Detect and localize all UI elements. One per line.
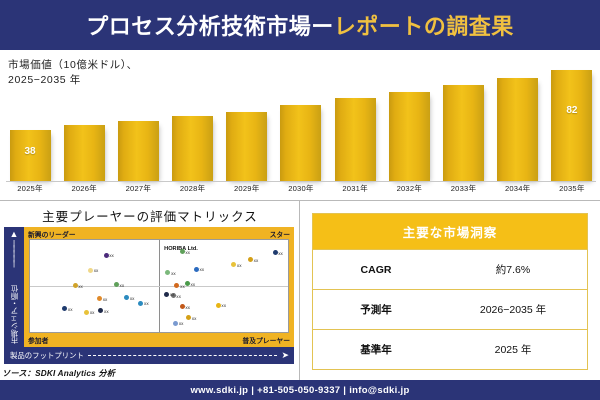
insights-row-key: 基準年 xyxy=(313,330,440,370)
matrix-data-point xyxy=(62,306,67,311)
bar xyxy=(389,92,430,181)
matrix-data-point xyxy=(124,295,129,300)
matrix-data-point xyxy=(231,262,236,267)
x-axis-tick-label: 2025年 xyxy=(8,183,52,198)
insights-row-value: 約7.6% xyxy=(439,250,588,290)
matrix-data-point-label: xx xyxy=(170,292,175,297)
chart-axis-line xyxy=(6,181,596,182)
matrix-data-point xyxy=(97,296,102,301)
matrix-data-point-label: xx xyxy=(120,283,125,288)
bar-column xyxy=(442,59,486,181)
matrix-x-axis-label: 製品のフットプリント xyxy=(10,350,84,361)
bar xyxy=(64,125,105,181)
matrix-data-point-label: xx xyxy=(78,284,83,289)
page-title: プロセス分析技術市場ーレポートの調査果 xyxy=(86,9,514,41)
matrix-data-point-label: xx xyxy=(109,253,114,258)
matrix-data-point-label: xx xyxy=(130,296,135,301)
x-axis-tick-label: 2032年 xyxy=(387,183,431,198)
bar-column xyxy=(62,59,106,181)
matrix-y-axis-label: 市場シェア・順位 xyxy=(9,285,20,344)
insights-table: 主要な市場洞察 CAGR約7.6%予測年2026−2035 年基準年2025 年 xyxy=(312,213,588,370)
source-note: ソース：SDKI Analytics 分析 xyxy=(2,367,115,379)
matrix-data-point xyxy=(164,292,169,297)
matrix-data-point-label: xx xyxy=(278,251,283,256)
matrix-data-point-label: xx xyxy=(190,282,195,287)
insights-table-row: CAGR約7.6% xyxy=(313,250,588,290)
market-value-bar-chart: 市場価値（10億米ドル）、 2025−2035 年 3882 2025年2026… xyxy=(0,50,600,200)
matrix-data-point xyxy=(273,250,278,255)
insights-table-body: CAGR約7.6%予測年2026−2035 年基準年2025 年 xyxy=(313,250,588,370)
up-arrow-icon: ▲ xyxy=(4,230,24,239)
quadrant-label-pervasive-players: 普及プレーヤー xyxy=(242,335,290,345)
bar xyxy=(280,105,321,181)
x-axis-tick-label: 2028年 xyxy=(171,183,215,198)
bar: 38 xyxy=(10,130,51,182)
bar-column: 82 xyxy=(550,59,594,181)
matrix-data-point xyxy=(104,253,109,258)
x-axis-tick-label: 2033年 xyxy=(442,183,486,198)
insights-row-value: 2026−2035 年 xyxy=(439,290,588,330)
matrix-data-point xyxy=(138,301,143,306)
bar xyxy=(443,85,484,181)
insights-row-key: CAGR xyxy=(313,250,440,290)
matrix-data-point-label: xx xyxy=(254,258,259,263)
matrix-data-point-label: xx xyxy=(185,250,190,255)
matrix-plot-area: HORIBA Ltd. xxxxxxxxxxxxxxxxxxxxxxxxxxxx… xyxy=(29,239,289,333)
insights-row-value: 2025 年 xyxy=(439,330,588,370)
matrix-data-point-label: xx xyxy=(179,321,184,326)
x-axis-tick-label: 2034年 xyxy=(496,183,540,198)
bar-column xyxy=(387,59,431,181)
right-arrow-icon: ➤ xyxy=(281,351,289,360)
matrix-frame: 新興のリーダー スター 参加者 普及プレーヤー HORIBA Ltd. xxxx… xyxy=(24,227,294,347)
bar-value-label: 82 xyxy=(566,105,577,116)
footer-contact-text: www.sdki.jp | +81-505-050-9337 | info@sd… xyxy=(190,385,409,396)
bar-value-label: 38 xyxy=(24,146,35,157)
x-axis-tick-label: 2030年 xyxy=(279,183,323,198)
matrix-data-point-label: xx xyxy=(180,284,185,289)
matrix-data-point-label: xx xyxy=(103,297,108,302)
x-axis-tick-label: 2029年 xyxy=(225,183,269,198)
matrix-data-point xyxy=(194,267,199,272)
matrix-data-point xyxy=(165,270,170,275)
bar-column xyxy=(333,59,377,181)
matrix-data-point xyxy=(180,304,185,309)
header-banner: プロセス分析技術市場ーレポートの調査果 xyxy=(0,0,600,50)
matrix-data-point xyxy=(73,283,78,288)
quadrant-label-stars: スター xyxy=(270,229,290,239)
matrix-data-point-label: xx xyxy=(90,310,95,315)
matrix-data-point xyxy=(248,257,253,262)
footer-banner: www.sdki.jp | +81-505-050-9337 | info@sd… xyxy=(0,380,600,400)
matrix-title: 主要プレーヤーの評価マトリックス xyxy=(0,206,300,225)
bar xyxy=(118,121,159,181)
x-axis-tick-label: 2035年 xyxy=(550,183,594,198)
x-axis-tick-label: 2031年 xyxy=(333,183,377,198)
x-axis-tick-label: 2026年 xyxy=(62,183,106,198)
quadrant-label-participants: 参加者 xyxy=(28,335,48,345)
insights-table-row: 基準年2025 年 xyxy=(313,330,588,370)
matrix-data-point-label: xx xyxy=(176,294,181,299)
key-market-insights-panel: 主要な市場洞察 CAGR約7.6%予測年2026−2035 年基準年2025 年 xyxy=(300,200,600,380)
infographic-page: プロセス分析技術市場ーレポートの調査果 市場価値（10億米ドル）、 2025−2… xyxy=(0,0,600,400)
y-axis-dashes: ||||| xyxy=(4,241,24,266)
bar xyxy=(172,116,213,181)
insights-table-header: 主要な市場洞察 xyxy=(313,214,588,250)
matrix-y-axis: ▲ ||||| 市場シェア・順位 xyxy=(4,227,24,347)
matrix-data-point-label: xx xyxy=(171,271,176,276)
bar xyxy=(226,112,267,181)
x-axis-dashed-line xyxy=(88,355,278,356)
bar-column xyxy=(116,59,160,181)
chart-bars: 3882 xyxy=(8,59,594,181)
bar-column: 38 xyxy=(8,59,52,181)
matrix-data-point xyxy=(216,303,221,308)
bar xyxy=(335,98,376,181)
matrix-data-point-label: xx xyxy=(237,263,242,268)
bar-column xyxy=(496,59,540,181)
insights-table-header-row: 主要な市場洞察 xyxy=(313,214,588,250)
matrix-data-point-label: xx xyxy=(200,267,205,272)
page-title-accent: レポートの調査果 xyxy=(334,14,514,39)
bar: 82 xyxy=(551,70,592,181)
matrix-data-point xyxy=(173,321,178,326)
matrix-data-point-label: xx xyxy=(192,316,197,321)
matrix-box: ▲ ||||| 市場シェア・順位 新興のリーダー スター 参加者 普及プレーヤー… xyxy=(4,227,294,347)
matrix-data-point-label: xx xyxy=(104,309,109,314)
x-axis-tick-label: 2027年 xyxy=(116,183,160,198)
matrix-data-point xyxy=(84,310,89,315)
matrix-data-point xyxy=(180,249,185,254)
insights-row-key: 予測年 xyxy=(313,290,440,330)
matrix-data-point-label: xx xyxy=(94,268,99,273)
bar-column xyxy=(279,59,323,181)
matrix-data-point xyxy=(174,283,179,288)
matrix-data-point-label: xx xyxy=(68,307,73,312)
insights-table-row: 予測年2026−2035 年 xyxy=(313,290,588,330)
matrix-data-point xyxy=(186,315,191,320)
matrix-x-axis: 製品のフットプリント ➤ xyxy=(4,347,294,364)
matrix-data-point-label: xx xyxy=(185,305,190,310)
bar-column xyxy=(171,59,215,181)
matrix-horizontal-divider xyxy=(30,286,288,287)
quadrant-label-emerging-leaders: 新興のリーダー xyxy=(28,229,76,239)
matrix-data-point xyxy=(98,308,103,313)
page-title-primary: プロセス分析技術市場ー xyxy=(86,14,334,39)
bar xyxy=(497,78,538,181)
player-evaluation-matrix-panel: 主要プレーヤーの評価マトリックス ▲ ||||| 市場シェア・順位 新興のリーダ… xyxy=(0,200,300,380)
bar-column xyxy=(225,59,269,181)
matrix-data-point xyxy=(88,268,93,273)
matrix-data-point-label: xx xyxy=(221,303,226,308)
chart-x-axis-labels: 2025年2026年2027年2028年2029年2030年2031年2032年… xyxy=(8,183,594,198)
matrix-data-point-label: xx xyxy=(144,301,149,306)
